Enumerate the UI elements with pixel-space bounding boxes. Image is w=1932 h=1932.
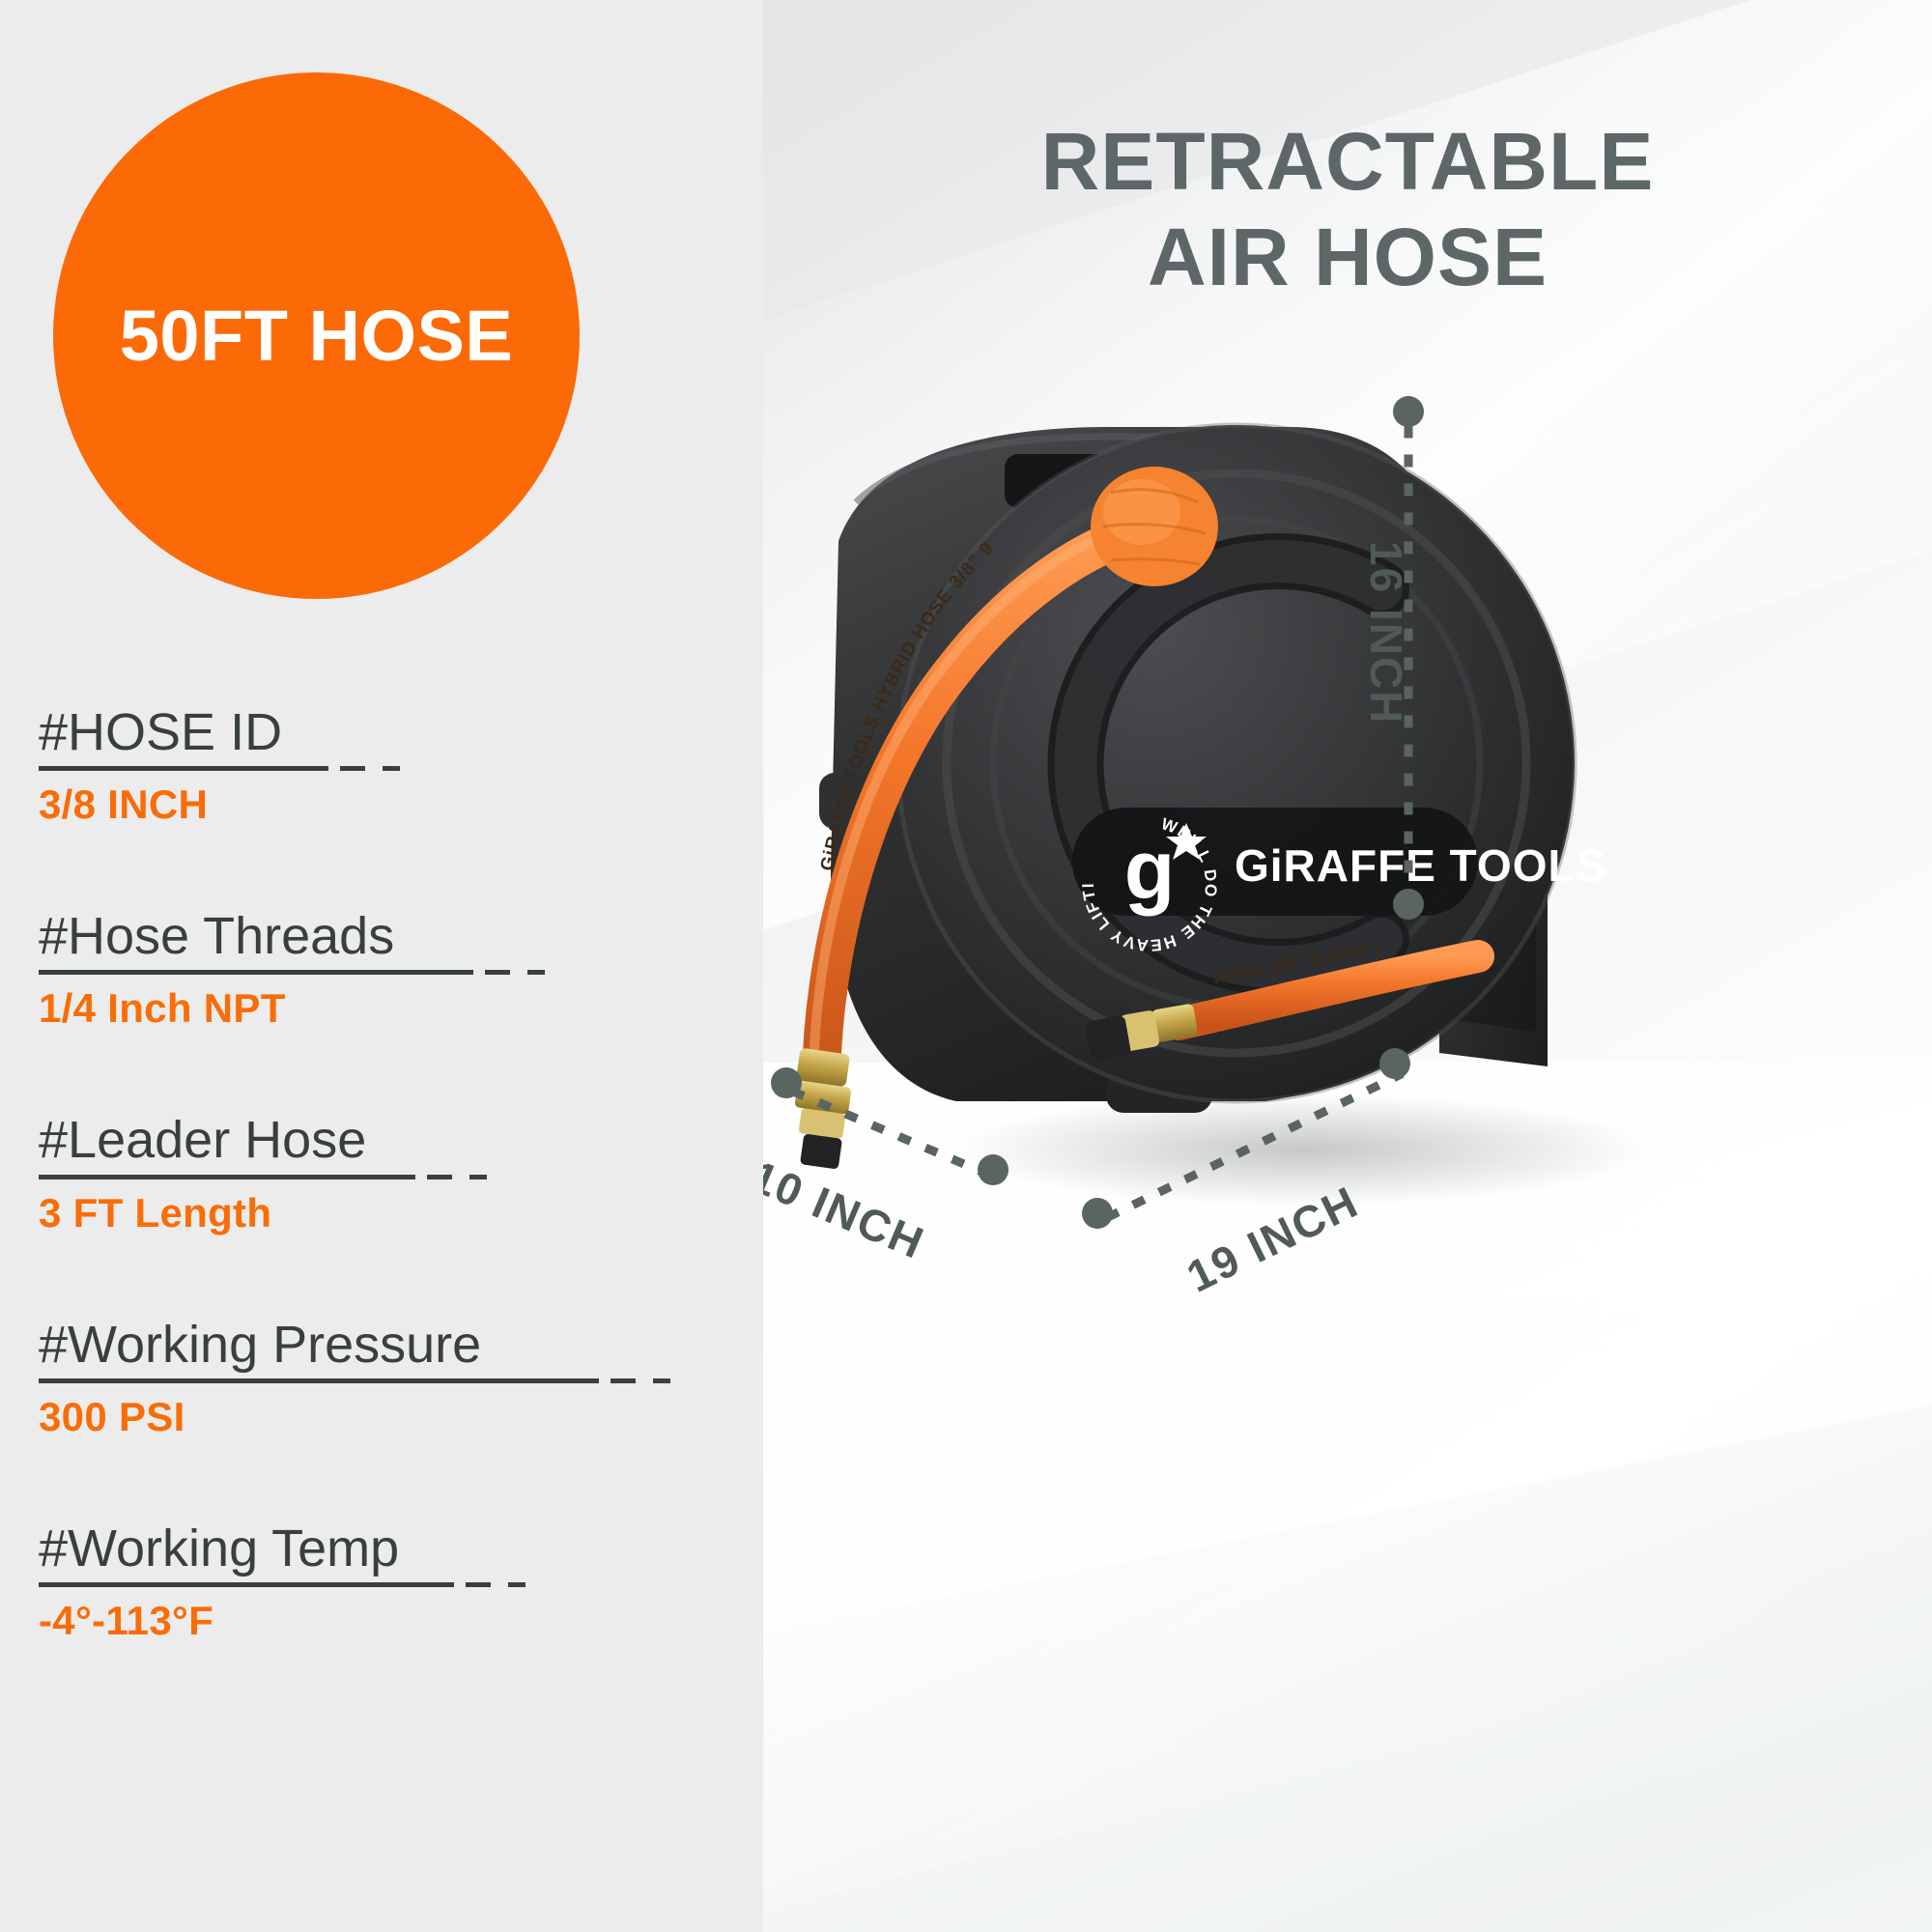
dimension-height-label: 16 INCH xyxy=(1360,541,1412,724)
spec-value: 300 PSI xyxy=(39,1394,715,1440)
spec-heading: #Working Temp xyxy=(39,1521,399,1577)
product-shadow xyxy=(956,1094,1652,1206)
spec-divider xyxy=(39,970,715,976)
spec-divider xyxy=(39,1582,715,1588)
spec-divider xyxy=(39,1175,715,1180)
spec-value: 3 FT Length xyxy=(39,1190,715,1236)
spec-list: #HOSE ID 3/8 INCH #Hose Threads 1/4 Inch… xyxy=(39,705,715,1644)
spec-heading: #Hose Threads xyxy=(39,909,394,964)
spec-value: -4°-113°F xyxy=(39,1598,715,1644)
spec-divider xyxy=(39,766,715,772)
dimension-endpoint-dot xyxy=(1393,396,1424,427)
hose-length-badge: 50FT HOSE xyxy=(53,72,580,599)
brand-name: GiRAFFE TOOLS xyxy=(1235,840,1606,891)
product-infographic: 50FT HOSE #HOSE ID 3/8 INCH #Hose Thread… xyxy=(0,0,1932,1932)
spec-divider xyxy=(39,1378,715,1384)
dimension-endpoint-dot xyxy=(1379,1048,1410,1079)
hose-length-badge-label: 50FT HOSE xyxy=(120,295,514,377)
hose-reel-product-image: g WE'LL DO THE HEAVY LIFTING GiRAFFE TOO… xyxy=(763,0,1932,1932)
spec-item-hose-id: #HOSE ID 3/8 INCH xyxy=(39,705,715,828)
spec-value: 3/8 INCH xyxy=(39,781,715,828)
spec-heading: #Working Pressure xyxy=(39,1318,481,1373)
spec-heading: #HOSE ID xyxy=(39,705,282,760)
spec-heading: #Leader Hose xyxy=(39,1113,366,1168)
dimension-endpoint-dot xyxy=(978,1154,1009,1185)
spec-value: 1/4 Inch NPT xyxy=(39,985,715,1032)
spec-panel: 50FT HOSE #HOSE ID 3/8 INCH #Hose Thread… xyxy=(0,0,763,1932)
spec-item-working-pressure: #Working Pressure 300 PSI xyxy=(39,1318,715,1440)
product-image-panel: RETRACTABLE AIR HOSE xyxy=(763,0,1932,1932)
spec-item-working-temp: #Working Temp -4°-113°F xyxy=(39,1521,715,1644)
spec-item-leader-hose: #Leader Hose 3 FT Length xyxy=(39,1113,715,1236)
dimension-endpoint-dot xyxy=(1393,889,1424,920)
brand-monogram: g xyxy=(1124,824,1176,917)
spec-item-hose-threads: #Hose Threads 1/4 Inch NPT xyxy=(39,909,715,1032)
